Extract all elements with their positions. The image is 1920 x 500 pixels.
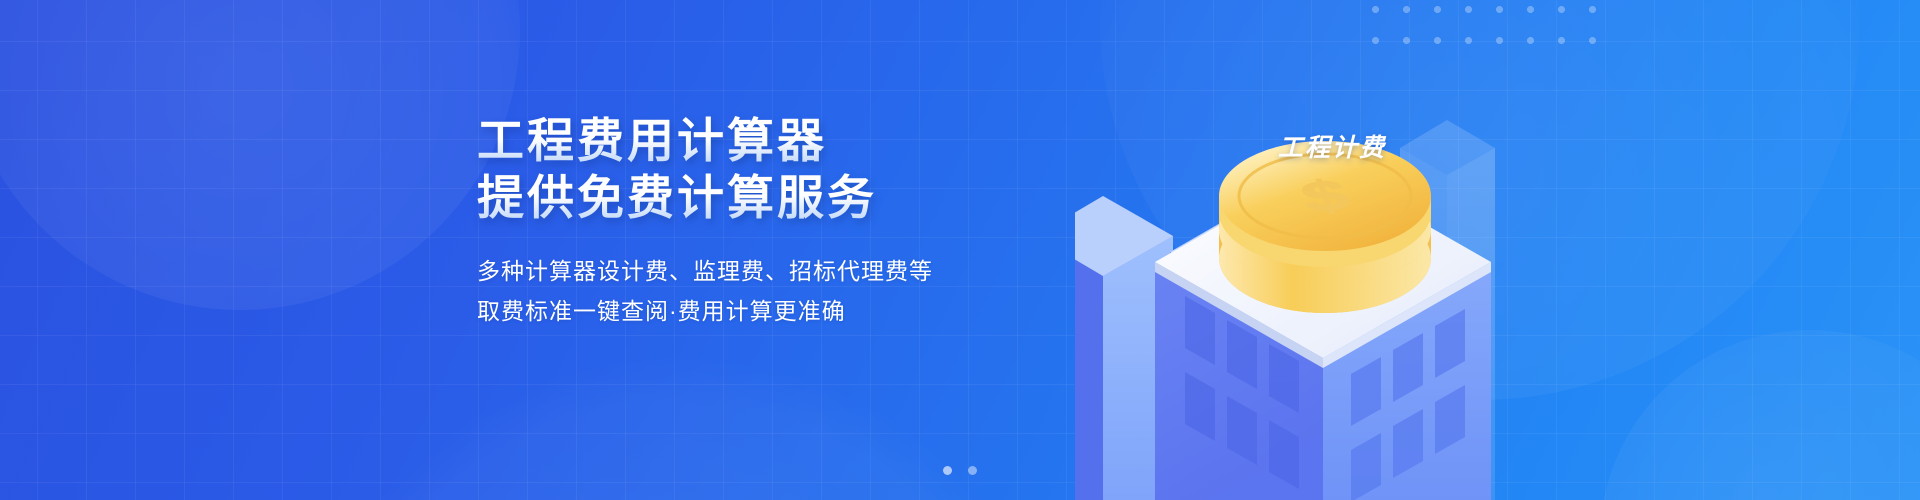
hero-banner: $ 工程计费 工程费用计算器 提供免费计算服务 多种计算器设计费、监理费、招标代… <box>0 0 1920 500</box>
gold-coin-stack: $ <box>1207 141 1443 322</box>
carousel-pagination[interactable] <box>0 466 1920 475</box>
hero-copy-block: 工程费用计算器 提供免费计算服务 多种计算器设计费、监理费、招标代理费等 取费标… <box>477 112 1097 331</box>
hero-illustration: $ 工程计费 <box>1075 0 1635 500</box>
illustration-label: 工程计费 <box>1278 128 1386 164</box>
decorative-circle-top-left <box>0 0 520 310</box>
carousel-dot-1[interactable] <box>943 466 952 475</box>
carousel-dot-2[interactable] <box>968 466 977 475</box>
isometric-city-illustration: $ <box>1075 0 1635 500</box>
hero-headline-line-2: 提供免费计算服务 <box>477 169 1097 226</box>
hero-subtitle-line-2: 取费标准一键查阅·费用计算更准确 <box>477 291 1097 331</box>
hero-subtitle-line-1: 多种计算器设计费、监理费、招标代理费等 <box>477 251 1097 291</box>
hero-headline-line-1: 工程费用计算器 <box>477 112 1097 169</box>
